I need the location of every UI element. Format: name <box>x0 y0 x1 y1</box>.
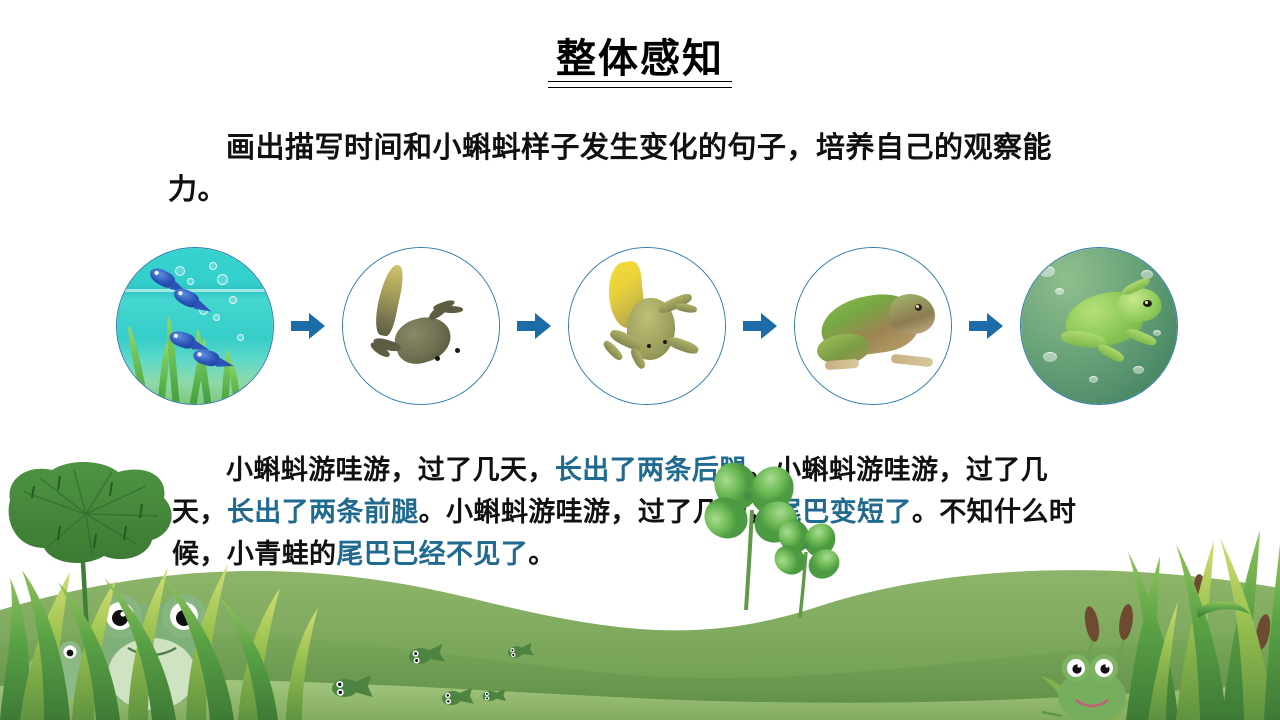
page-title: 整体感知 <box>0 38 1280 86</box>
paragraph-run: 。小蝌蚪游哇游，过了几天， <box>419 497 775 528</box>
lotus-leaf <box>9 462 172 656</box>
grass-right <box>1126 530 1280 720</box>
lifecycle-stage-4-young-frog <box>794 247 952 405</box>
paragraph-highlight: 长出了两条前腿 <box>227 497 419 528</box>
paragraph-highlight: 尾巴变短了 <box>775 497 912 528</box>
tadpoles-on-hill <box>331 643 533 707</box>
tadpoles-in-water-illustration <box>117 248 273 404</box>
page-title-text: 整体感知 <box>556 38 724 86</box>
rolling-hills <box>0 570 1280 720</box>
instruction-text: 画出描写时间和小蝌蚪样子发生变化的句子，培养自己的观察能力。 <box>168 126 1098 210</box>
arrow-icon-3 <box>743 311 777 341</box>
lifecycle-stage-2-tadpole-hind-legs <box>342 247 500 405</box>
frog-lifecycle-diagram <box>116 246 1178 406</box>
paragraph-run: 小蝌蚪游哇游，过了几天， <box>226 455 555 486</box>
arrow-icon-4 <box>969 311 1003 341</box>
lifecycle-stage-1-tadpoles-in-water <box>116 247 274 405</box>
paragraph-run: 。 <box>528 539 555 570</box>
grass-left <box>0 564 318 720</box>
froglet-illustration <box>569 248 725 404</box>
cartoon-frog-right <box>1042 654 1126 720</box>
arrow-icon-2 <box>517 311 551 341</box>
cattail-reeds-right <box>1040 573 1273 720</box>
lesson-paragraph: 小蝌蚪游哇游，过了几天，长出了两条后腿。小蝌蚪游哇游，过了几天，长出了两条前腿。… <box>172 450 1098 576</box>
paragraph-highlight: 长出了两条后腿 <box>555 455 747 486</box>
young-frog-illustration <box>795 248 951 404</box>
cartoon-frog-left <box>26 594 214 710</box>
arrow-icon-1 <box>291 311 325 341</box>
slide-canvas: 整体感知 画出描写时间和小蝌蚪样子发生变化的句子，培养自己的观察能力。 <box>0 0 1280 720</box>
lifecycle-stage-3-froglet <box>568 247 726 405</box>
lifecycle-stage-5-adult-frog-on-leaf <box>1020 247 1178 405</box>
adult-frog-on-leaf-illustration <box>1021 248 1177 404</box>
tadpole-hind-legs-illustration <box>343 248 499 404</box>
paragraph-highlight: 尾巴已经不见了 <box>336 539 528 570</box>
